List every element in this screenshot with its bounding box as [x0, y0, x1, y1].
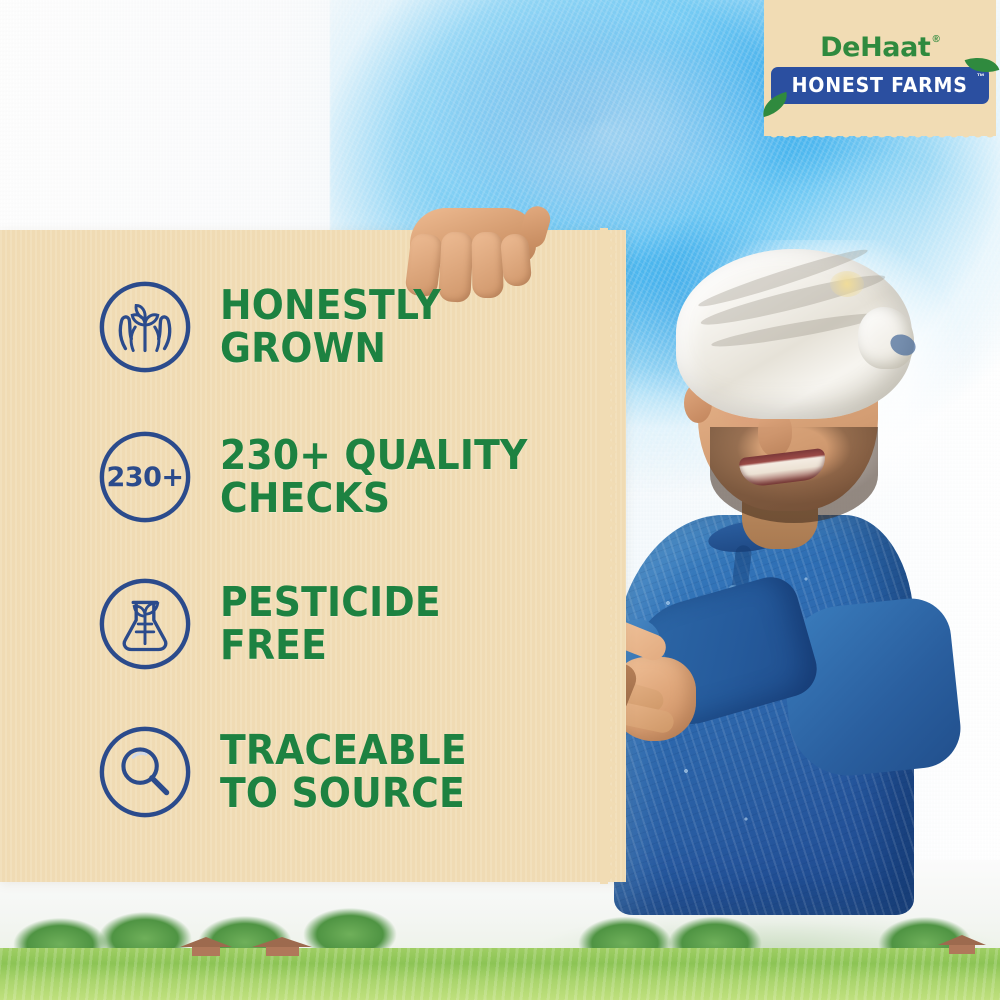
feature-item-traceable-to-source: TRACEABLE TO SOURCE: [96, 723, 488, 821]
village-hut: [180, 937, 232, 956]
turban-highlight: [830, 271, 864, 297]
brand-sub-banner: HONEST FARMS ™: [771, 67, 988, 104]
feature-label: TRACEABLE TO SOURCE: [220, 729, 467, 814]
flask-with-sprout-icon: [96, 575, 194, 673]
icon-value: [96, 723, 194, 821]
logo-scalloped-edge: [764, 130, 996, 142]
village-hut: [938, 935, 986, 954]
village-hut: [252, 937, 312, 956]
feature-item-pesticide-free: PESTICIDE FREE: [96, 575, 460, 673]
icon-value: [96, 278, 194, 376]
feature-item-honestly-grown: HONESTLY GROWN: [96, 278, 460, 376]
leaf-icon: [759, 92, 791, 117]
hands-holding-sprout-icon: [96, 278, 194, 376]
feature-item-quality-checks: 230+ 230+ QUALITY CHECKS: [96, 428, 554, 526]
brand-sub-name: HONEST FARMS: [792, 73, 968, 97]
magnifying-glass-icon: [96, 723, 194, 821]
brand-wordmark: DeHaat ®: [820, 32, 940, 63]
icon-value: 230+: [96, 428, 194, 526]
field-texture: [0, 948, 1000, 1000]
trademark-mark: ™: [977, 72, 985, 81]
icon-value: [96, 575, 194, 673]
feature-label: 230+ QUALITY CHECKS: [220, 434, 528, 519]
farmer-illustration: [590, 215, 950, 915]
feature-list: HONESTLY GROWN 230+ 230+ QUALITY CHECKS: [0, 230, 608, 882]
brand-name: DeHaat: [820, 32, 930, 63]
quality-checks-count-icon: 230+: [96, 428, 194, 526]
registered-mark: ®: [932, 34, 939, 45]
feature-label: HONESTLY GROWN: [220, 284, 441, 369]
feature-label: PESTICIDE FREE: [220, 581, 441, 666]
promo-banner: HONESTLY GROWN 230+ 230+ QUALITY CHECKS: [0, 0, 1000, 1000]
brand-logo-box[interactable]: DeHaat ® HONEST FARMS ™: [764, 0, 996, 136]
